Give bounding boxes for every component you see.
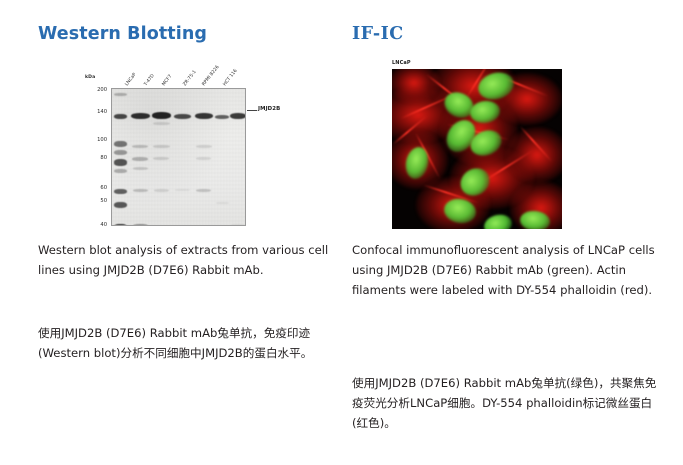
target-band-label: JMJD2B	[258, 106, 280, 112]
lane-label: T-47D	[144, 75, 156, 88]
mw-marker: 100	[85, 138, 107, 143]
lane-label: RPMI 8226	[202, 66, 221, 88]
lane-label: MCF7	[162, 75, 173, 88]
western-blot-figure: kDa 200 140 100 80 60 50 40 LNCaP T-47D …	[85, 62, 253, 230]
western-blot-caption-zh: 使用JMJD2B (D7E6) Rabbit mAb兔单抗，免疫印迹(Weste…	[38, 323, 338, 363]
caption-text: 使用JMJD2B (D7E6) Rabbit mAb兔单抗(绿色)，共聚焦免疫荧…	[352, 373, 657, 433]
mw-marker: 200	[85, 88, 107, 93]
if-cell-line-label: LNCaP	[392, 58, 411, 69]
lane-label: ZR-75-1	[183, 71, 198, 88]
caption-text: Western blot analysis of extracts from v…	[38, 240, 338, 280]
western-blotting-heading: Western Blotting	[38, 24, 207, 44]
target-band-pointer	[247, 110, 257, 111]
lane-label: LNCaP	[125, 74, 138, 88]
if-ic-caption-en: Confocal immunofluorescent analysis of L…	[352, 240, 657, 300]
caption-text: Confocal immunofluorescent analysis of L…	[352, 240, 657, 300]
caption-text: 使用JMJD2B (D7E6) Rabbit mAb兔单抗，免疫印迹(Weste…	[38, 323, 338, 363]
mw-marker: 60	[85, 186, 107, 191]
mw-marker: 80	[85, 156, 107, 161]
blot-membrane	[111, 88, 246, 226]
lane-label: HCT 116	[223, 70, 239, 88]
if-ic-caption-zh: 使用JMJD2B (D7E6) Rabbit mAb兔单抗(绿色)，共聚焦免疫荧…	[352, 373, 657, 433]
application-images-page: Western Blotting kDa 200 140 100 80 60 5…	[0, 0, 683, 465]
if-ic-heading: IF-IC	[352, 24, 404, 44]
kda-axis-label: kDa	[85, 75, 95, 80]
confocal-image-panel	[392, 69, 562, 229]
lane-labels: LNCaP T-47D MCF7 ZR-75-1 RPMI 8226 HCT 1…	[111, 62, 253, 88]
molecular-weight-markers: 200 140 100 80 60 50 40	[85, 86, 109, 226]
mw-marker: 40	[85, 223, 107, 228]
mw-marker: 50	[85, 199, 107, 204]
western-blot-caption-en: Western blot analysis of extracts from v…	[38, 240, 338, 280]
immunofluorescence-figure: LNCaP	[392, 58, 564, 230]
mw-marker: 140	[85, 110, 107, 115]
